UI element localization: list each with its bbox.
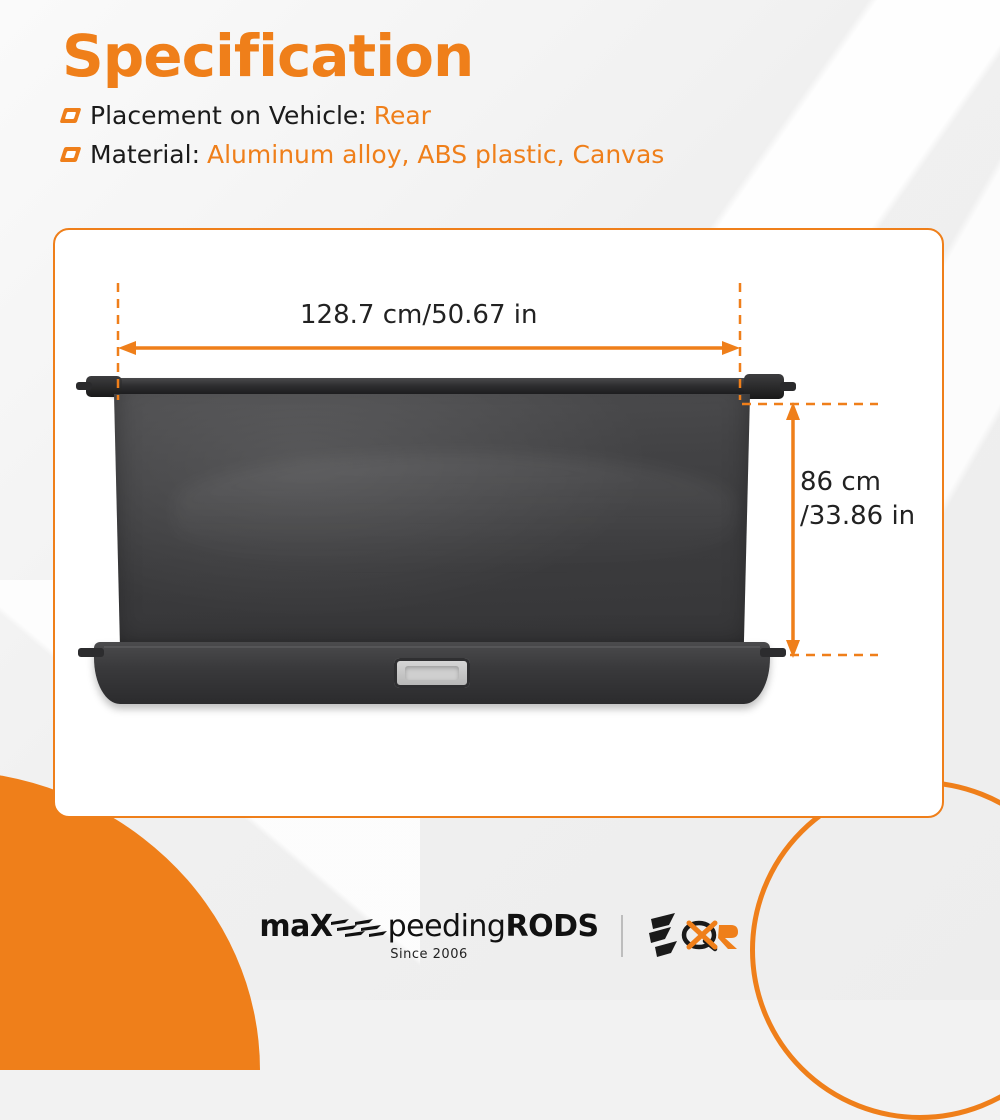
product-bar-nub-right	[760, 648, 786, 657]
dimension-width-label: 128.7 cm/50.67 in	[300, 300, 537, 330]
speed-streaks-icon	[331, 919, 387, 941]
qxr-logo-icon	[645, 911, 741, 961]
product-canvas-sheet	[114, 394, 750, 662]
parallelogram-bullet-icon	[60, 108, 82, 123]
spec-value-placement: Rear	[374, 101, 431, 130]
product-canvas-highlight	[174, 454, 734, 574]
spec-row-material: Material: Aluminum alloy, ABS plastic, C…	[62, 140, 664, 169]
spec-label-material: Material:	[90, 140, 200, 169]
product-rail-cap-right	[744, 374, 784, 399]
parallelogram-bullet-icon	[60, 147, 82, 162]
product-top-rail	[108, 378, 756, 395]
product-image	[70, 370, 800, 740]
brand-text-rods: RODS	[505, 909, 598, 944]
dimension-height-line1: 86 cm	[800, 465, 915, 499]
dimension-height-label: 86 cm /33.86 in	[800, 465, 915, 534]
brand-wordmark: ma X peeding RODS	[259, 909, 598, 944]
product-rail-nub-left	[76, 382, 92, 390]
brand-text-x: X	[310, 909, 333, 944]
page-title: Specification	[62, 26, 664, 87]
product-rail-nub-right	[780, 382, 796, 391]
specification-header: Specification Placement on Vehicle: Rear…	[62, 26, 664, 179]
maxpeedingrods-logo: ma X peeding RODS Since 2006	[259, 909, 598, 962]
spec-row-placement: Placement on Vehicle: Rear	[62, 101, 664, 130]
footer: ma X peeding RODS Since 2006	[0, 909, 1000, 962]
brand-text-peeding: peeding	[388, 909, 506, 944]
dimension-height-line2: /33.86 in	[800, 499, 915, 533]
product-bar-nub-left	[78, 648, 104, 657]
product-bottom-bar	[94, 642, 770, 704]
spec-label-placement: Placement on Vehicle:	[90, 101, 367, 130]
footer-divider	[621, 915, 623, 957]
product-pull-handle	[394, 658, 470, 688]
brand-text-ma: ma	[259, 909, 310, 944]
spec-value-material: Aluminum alloy, ABS plastic, Canvas	[207, 140, 664, 169]
brand-since-text: Since 2006	[390, 947, 467, 962]
qxr-logo	[645, 911, 741, 961]
